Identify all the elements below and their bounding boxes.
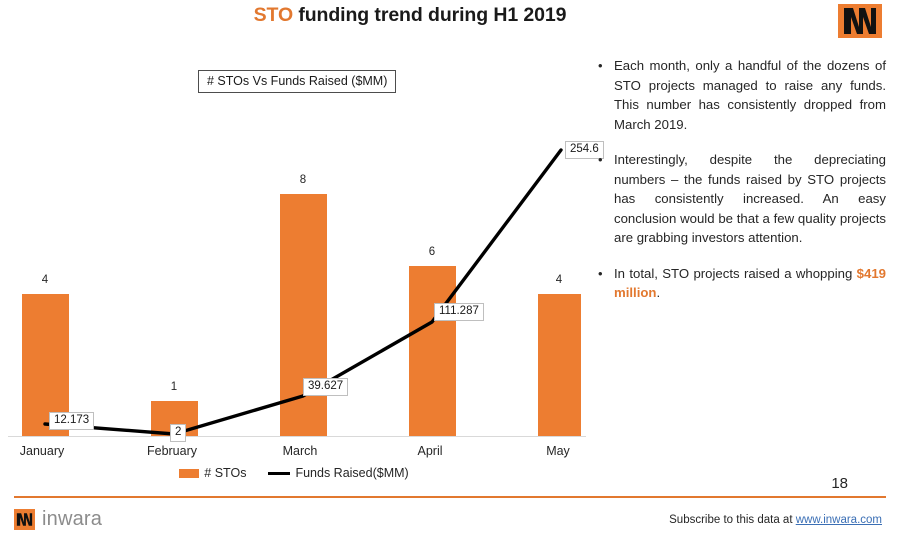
footer-brand: inwara — [14, 508, 102, 531]
x-tick-april: April — [417, 444, 442, 458]
legend-item-funds-raised[interactable]: Funds Raised($MM) — [268, 466, 408, 480]
bullet-text-3: In total, STO projects raised a whopping… — [614, 264, 886, 303]
funds-raised-line — [0, 58, 588, 438]
brand-wordmark: inwara — [42, 508, 102, 531]
list-item: • In total, STO projects raised a whoppi… — [598, 264, 886, 303]
commentary-list: • Each month, only a handful of the doze… — [598, 56, 886, 319]
list-item: • Interestingly, despite the depreciatin… — [598, 150, 886, 248]
legend-item-stos[interactable]: # STOs — [179, 466, 246, 480]
subscribe-text: Subscribe to this data at — [669, 514, 796, 526]
point-label-february: 2 — [170, 424, 186, 442]
chart-panel: # STOs Vs Funds Raised ($MM) 4 1 8 6 4 1… — [0, 58, 588, 483]
bullet-text-3-before: In total, STO projects raised a whopping — [614, 266, 857, 281]
x-tick-march: March — [283, 444, 318, 458]
x-tick-february: February — [147, 444, 197, 458]
x-tick-january: January — [20, 444, 64, 458]
chart-legend: # STOs Funds Raised($MM) — [0, 466, 588, 480]
legend-swatch-bar-icon — [179, 469, 199, 478]
legend-swatch-line-icon — [268, 472, 290, 475]
slide-canvas: STO funding trend during H1 2019 # STOs … — [0, 0, 900, 537]
page-title-accent: STO — [254, 4, 293, 26]
page-title-rest: funding trend during H1 2019 — [293, 4, 566, 26]
chart-plot-area: 4 1 8 6 4 12.173 2 39.627 111.287 254.6 … — [0, 58, 588, 438]
point-label-january: 12.173 — [49, 412, 94, 430]
page-title: STO funding trend during H1 2019 — [0, 4, 820, 27]
subscribe-note: Subscribe to this data at www.inwara.com — [669, 514, 882, 526]
list-item: • Each month, only a handful of the doze… — [598, 56, 886, 134]
inwara-website-link[interactable]: www.inwara.com — [796, 514, 882, 526]
footer-divider — [14, 496, 886, 498]
bullet-dot-icon: • — [598, 264, 614, 303]
legend-label-funds-raised: Funds Raised($MM) — [295, 466, 408, 480]
bullet-text-3-after: . — [657, 285, 661, 300]
inwara-logo-icon — [14, 509, 35, 530]
bullet-text-1: Each month, only a handful of the dozens… — [614, 56, 886, 134]
page-number: 18 — [831, 475, 848, 492]
x-tick-may: May — [546, 444, 570, 458]
point-label-april: 111.287 — [434, 303, 484, 321]
bullet-text-2: Interestingly, despite the depreciating … — [614, 150, 886, 248]
inwara-logo-icon — [838, 4, 882, 38]
bullet-dot-icon: • — [598, 150, 614, 248]
legend-label-stos: # STOs — [204, 466, 246, 480]
point-label-march: 39.627 — [303, 378, 348, 396]
bullet-dot-icon: • — [598, 56, 614, 134]
